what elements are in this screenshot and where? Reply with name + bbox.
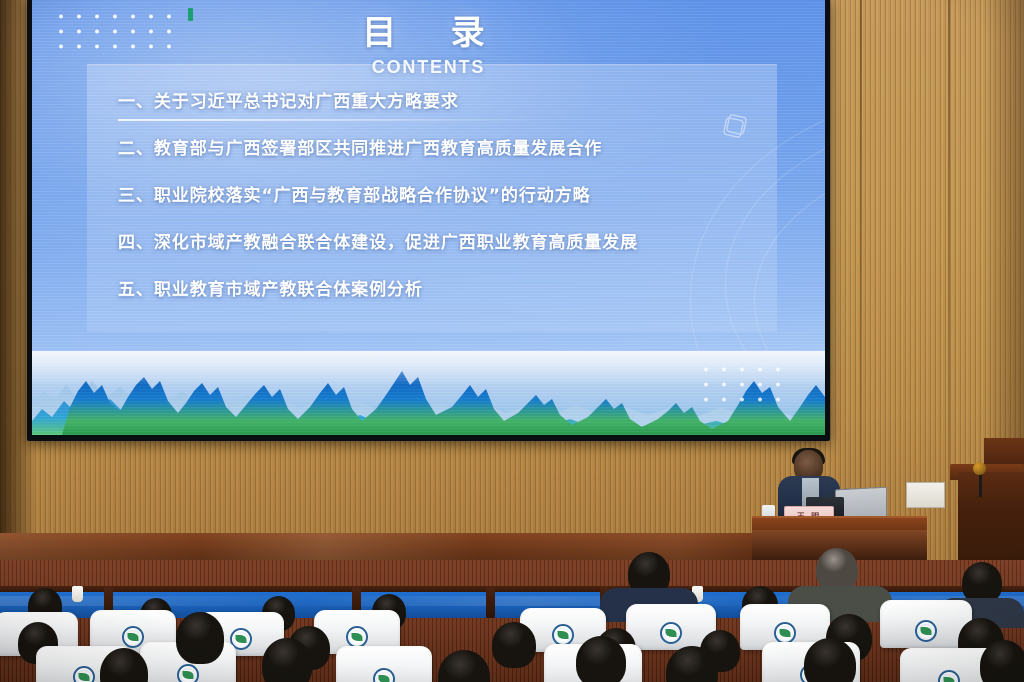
toc-underline	[118, 119, 548, 121]
toc-item[interactable]: 二、教育部与广西签署部区共同推进广西教育高质量发展合作	[118, 123, 778, 170]
toc-item-label: 二、教育部与广西签署部区共同推进广西教育高质量发展合作	[118, 134, 602, 159]
toc-list: 一、关于习近平总书记对广西重大方略要求 二、教育部与广西签署部区共同推进广西教育…	[118, 76, 778, 311]
toc-item[interactable]: 五、职业教育市域产教联合体案例分析	[118, 264, 778, 311]
school-emblem-icon	[774, 622, 796, 644]
paper-cup	[72, 586, 83, 602]
school-emblem-icon	[552, 624, 574, 646]
audience-head	[980, 640, 1024, 682]
toc-item-label: 五、职业教育市域产教联合体案例分析	[118, 275, 423, 300]
school-emblem-icon	[346, 626, 368, 648]
dot-grid-icon	[695, 359, 787, 407]
toc-item[interactable]: 四、深化市域产教融合联合体建设，促进广西职业教育高质量发展	[118, 217, 778, 264]
audience-head	[492, 622, 536, 668]
slide-title-cn: 目 录	[32, 16, 825, 52]
audience-head	[176, 612, 224, 664]
toc-item[interactable]: 一、关于习近平总书记对广西重大方略要求	[118, 76, 778, 123]
counter-divider	[486, 586, 495, 618]
wall-seam	[948, 0, 950, 575]
school-emblem-icon	[660, 622, 682, 644]
school-emblem-icon	[122, 626, 144, 648]
school-emblem-icon	[177, 664, 199, 682]
microphone-icon	[973, 462, 986, 475]
audience-chair[interactable]	[336, 646, 432, 682]
audience-head	[576, 636, 626, 682]
school-emblem-icon	[915, 620, 937, 642]
conference-photo-scene: 目 录 CONTENTS 一、关于习近平总书记对广西重大方略要求 二、教育部与广…	[0, 0, 1024, 682]
school-emblem-icon	[73, 666, 95, 682]
toc-item-label: 一、关于习近平总书记对广西重大方略要求	[118, 87, 459, 112]
led-screen[interactable]: 目 录 CONTENTS 一、关于习近平总书记对广西重大方略要求 二、教育部与广…	[32, 0, 825, 435]
toc-item-label: 三、职业院校落实“广西与教育部战略合作协议”的行动方略	[118, 181, 591, 206]
toc-item[interactable]: 三、职业院校落实“广西与教育部战略合作协议”的行动方略	[118, 170, 778, 217]
school-emblem-icon	[938, 670, 960, 682]
toc-item-label: 四、深化市域产教融合联合体建设，促进广西职业教育高质量发展	[118, 228, 638, 253]
karst-mountain-art	[32, 351, 825, 435]
wall-control-panel[interactable]	[906, 482, 945, 508]
school-emblem-icon	[373, 668, 395, 682]
